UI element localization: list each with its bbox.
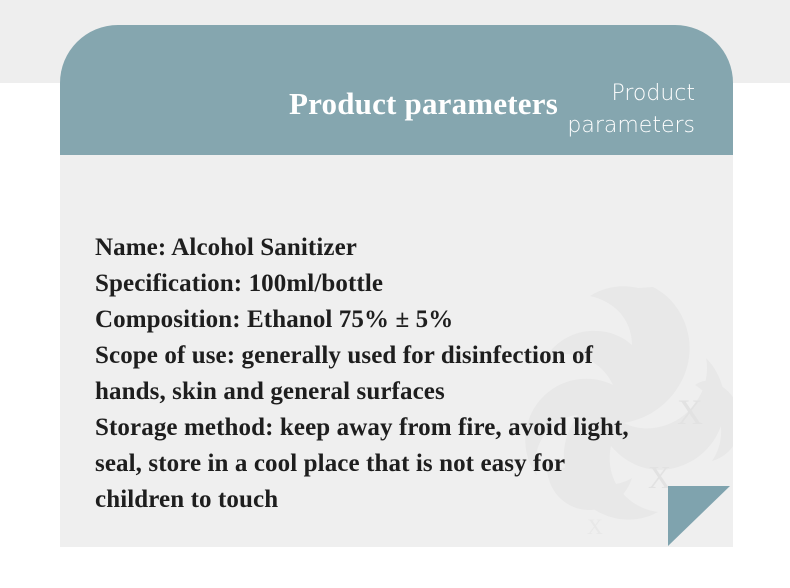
card-body: X X X Name: Alcohol Sanitizer Specificat…: [60, 155, 733, 547]
header-subtitle: Product parameters: [530, 78, 695, 142]
param-line-scope-of-use-2: hands, skin and general surfaces: [95, 374, 715, 410]
page-canvas: Product parameters Product parameters X …: [0, 0, 790, 588]
product-parameter-list: Name: Alcohol Sanitizer Specification: 1…: [95, 230, 715, 518]
param-line-scope-of-use-1: Scope of use: generally used for disinfe…: [95, 338, 715, 374]
param-line-name: Name: Alcohol Sanitizer: [95, 230, 715, 266]
corner-fold-decoration: [668, 486, 730, 546]
page-title: Product parameters: [60, 88, 558, 119]
param-line-composition: Composition: Ethanol 75% ± 5%: [95, 302, 715, 338]
param-line-storage-method-3: children to touch: [95, 482, 715, 518]
header-subtitle-line-2: parameters: [530, 110, 695, 142]
card-header: Product parameters Product parameters: [60, 25, 733, 155]
product-parameters-card: Product parameters Product parameters X …: [60, 25, 733, 547]
param-line-storage-method-2: seal, store in a cool place that is not …: [95, 446, 715, 482]
header-subtitle-line-1: Product: [530, 78, 695, 110]
param-line-specification: Specification: 100ml/bottle: [95, 266, 715, 302]
param-line-storage-method-1: Storage method: keep away from fire, avo…: [95, 410, 715, 446]
